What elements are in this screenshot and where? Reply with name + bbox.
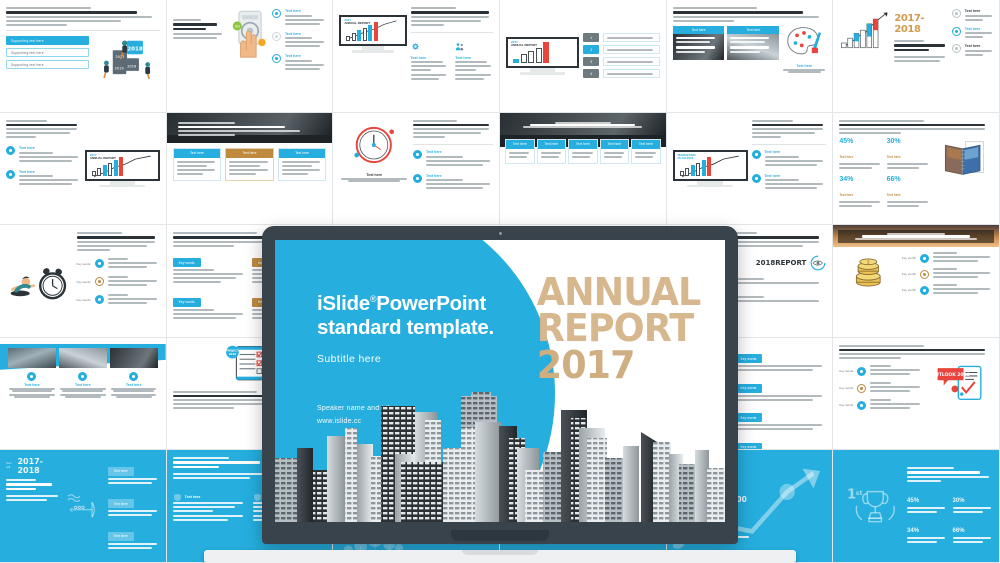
step-label: Key words <box>77 262 91 266</box>
thumbnail-r4c1[interactable]: Text here Text here Text here <box>0 338 167 451</box>
svg-text:2017: 2017 <box>116 55 125 59</box>
card: Text here <box>537 139 567 164</box>
photo <box>59 348 107 368</box>
thumbnail-r4c6[interactable]: Key words Key words Key words OUTLOOK 20… <box>833 338 1000 451</box>
card: Text here <box>505 139 535 164</box>
annual-line-1: ANNUAL <box>537 274 719 310</box>
play-icon <box>857 384 866 393</box>
step-label: Key words <box>839 369 853 373</box>
outlook-illustration: OUTLOOK 2018 <box>927 363 993 411</box>
thumbnail-r2c5[interactable]: MARKETINGPLAN 2018 Text here <box>667 113 834 226</box>
item-title: Text here <box>965 9 993 13</box>
percent-value: 30% <box>953 498 965 504</box>
card: Text here <box>600 139 630 164</box>
play-icon <box>95 277 104 286</box>
gear-icon <box>411 42 420 51</box>
item-title: Text here <box>965 27 993 31</box>
chart-icon <box>6 146 15 155</box>
thumbnail-r1c1[interactable]: Supporting text here Supporting text her… <box>0 0 167 113</box>
shield-icon <box>173 493 182 502</box>
monitor-mock: 2017ANNUAL REPORT <box>85 120 160 218</box>
hand-tap-illustration: ON <box>229 7 269 72</box>
thumbnail-r1c2[interactable]: ON Text here Text here Text here <box>167 0 334 113</box>
gear-icon <box>6 170 15 179</box>
monitor-mock: 2017ANNUAL REPORT <box>339 7 406 82</box>
svg-text:2019: 2019 <box>115 66 124 70</box>
thumbnail-r2c4[interactable]: Text here Text here Text here Text here … <box>500 113 667 226</box>
play-icon <box>857 367 866 376</box>
bar-label: Supporting text here <box>7 61 88 67</box>
chart-icon <box>952 27 961 36</box>
svg-text:2018: 2018 <box>127 46 143 52</box>
gear-icon <box>752 174 761 183</box>
eye-icon <box>810 255 826 271</box>
laptop-lid: iSlide®PowerPoint standard template. Sub… <box>262 226 738 544</box>
step-label: Key words <box>902 256 916 260</box>
webcam-icon <box>499 232 502 235</box>
target-icon <box>413 150 422 159</box>
thumbnail-r5c1[interactable]: Text will 2017-2018 <box>0 450 167 563</box>
percent-value: 66% <box>953 528 965 534</box>
play-icon <box>857 401 866 410</box>
chat-icon <box>272 32 281 41</box>
card: Text here <box>225 148 274 181</box>
step-label: Key words <box>839 386 853 390</box>
step-label: Key words <box>77 280 91 284</box>
col-title: Text here <box>411 56 449 60</box>
thumbnail-r1c6[interactable]: 2017-2018 Text here Text here Text here <box>833 0 1000 113</box>
caption: Text here <box>782 64 826 68</box>
item-title: Text here <box>285 32 326 36</box>
photo <box>8 348 56 368</box>
people-icon <box>455 42 464 51</box>
col-title: Text here <box>185 495 201 499</box>
keyword-chip: Key words <box>173 298 201 307</box>
percent-label: Text here <box>839 193 853 197</box>
year-range: 2017-2018 <box>894 13 947 35</box>
percent-label: Text here <box>887 193 901 197</box>
thumbnail-r3c1[interactable]: Key words Key words Key words <box>0 225 167 338</box>
clock-illustration: Text here <box>339 120 409 218</box>
item-title: Text here <box>765 150 827 154</box>
coins-illustration: $ <box>839 255 898 294</box>
step-label: Key words <box>839 403 853 407</box>
laptop-hinge-notch <box>451 530 549 541</box>
svg-text:OUTLOOK 2018: OUTLOOK 2018 <box>931 372 969 378</box>
screenshot-root: Supporting text here Supporting text her… <box>0 0 1000 563</box>
monitor-mock: MARKETINGPLAN 2018 <box>673 120 748 218</box>
item-chip: Text here <box>108 499 134 508</box>
thumbnail-r1c4[interactable]: 2017ANNUAL REPORT 1 2 3 4 <box>500 0 667 113</box>
bar-label: Supporting text here <box>7 37 88 43</box>
percent-value: 45% <box>839 138 882 145</box>
slide-title-line2: standard template. <box>317 316 494 339</box>
thumbnail-r2c2[interactable]: Text here Text here Text here <box>167 113 334 226</box>
item-title: Text here <box>8 383 56 387</box>
percent-value: 66% <box>887 176 930 183</box>
step-label: Key words <box>902 288 916 292</box>
palette-illustration: Text here <box>782 26 826 74</box>
search-icon <box>272 9 281 18</box>
card: Text here <box>568 139 598 164</box>
leaf-icon <box>27 372 36 381</box>
play-icon <box>920 286 929 295</box>
item-title: Text here <box>59 383 107 387</box>
laptop-screen: iSlide®PowerPoint standard template. Sub… <box>275 240 725 522</box>
photo-card: Text here <box>673 26 725 74</box>
svg-text:$: $ <box>867 259 870 265</box>
item-chip: Text here <box>108 532 134 541</box>
keyword-chip: Key words <box>173 258 201 267</box>
svg-text:2016: 2016 <box>127 64 137 68</box>
annual-line-2: REPORT <box>537 310 719 346</box>
percent-value: 30% <box>887 138 930 145</box>
svg-text:st: st <box>856 490 863 497</box>
annual-report-heading: ANNUAL REPORT 2017 <box>537 274 719 383</box>
percent-value: 34% <box>839 176 882 183</box>
percent-label: Text here <box>839 155 853 159</box>
slide-subtitle: Subtitle here <box>317 353 381 365</box>
year-range: 2017-2018 <box>17 457 60 475</box>
play-icon <box>95 259 104 268</box>
svg-text:1: 1 <box>847 487 856 502</box>
bar-label: Supporting text here <box>7 49 88 55</box>
play-icon <box>95 295 104 304</box>
percent-label: Text here <box>887 155 901 159</box>
laptop-base <box>204 550 796 563</box>
chart-icon <box>752 150 761 159</box>
item-title: Text here <box>19 146 81 150</box>
percent-value: 34% <box>907 528 919 534</box>
annual-line-3: 2017 <box>537 347 719 383</box>
alarm-illustration <box>6 232 73 330</box>
slide-title-brand: iSlide <box>317 292 370 315</box>
play-icon <box>920 254 929 263</box>
card: Text here <box>278 148 327 181</box>
city-skyline-illustration <box>275 392 725 522</box>
gear-icon <box>413 174 422 183</box>
people-icon <box>952 9 961 18</box>
item-title: Text here <box>19 170 81 174</box>
trophy-illustration: 1 st <box>839 479 903 534</box>
title-slide: iSlide®PowerPoint standard template. Sub… <box>275 240 725 522</box>
thumbnail-r5c6[interactable]: 1 st 45% 30% <box>833 450 1000 563</box>
item-title: Text here <box>765 174 827 178</box>
item-title: Text here <box>426 150 493 154</box>
gear-icon <box>78 372 87 381</box>
photo <box>110 348 158 368</box>
thumbnail-r1c3[interactable]: 2017ANNUAL REPORT <box>333 0 500 113</box>
percent-value: 45% <box>907 498 919 504</box>
pen-icon <box>129 372 138 381</box>
thumbnail-r2c3[interactable]: Text here Text here Text here <box>333 113 500 226</box>
item-title: Text here <box>285 54 326 58</box>
monitor-mock: 2017ANNUAL REPORT <box>506 37 579 75</box>
step-label: Key words <box>77 298 91 302</box>
item-title: Text here <box>285 9 326 13</box>
thumbnail-r1c5[interactable]: Text here Text here <box>667 0 834 113</box>
slide-title-product: PowerPoint <box>376 292 486 315</box>
item-title: Text here <box>965 44 993 48</box>
open-book-illustration <box>934 138 993 209</box>
search-icon <box>272 54 281 63</box>
play-icon <box>920 270 929 279</box>
item-title: Text here <box>110 383 158 387</box>
card: Text here <box>631 139 661 164</box>
step-label: Key words <box>902 272 916 276</box>
thumbnail-r2c1[interactable]: Text here Text here 2017ANNUAL REPORT <box>0 113 167 226</box>
item-chip: Text here <box>108 467 134 476</box>
col-title: Text here <box>455 56 493 60</box>
trumpet-illustration <box>65 457 104 555</box>
thumbnail-r3c6[interactable]: $ Key words Key words Key words <box>833 225 1000 338</box>
laptop-mockup: iSlide®PowerPoint standard template. Sub… <box>204 226 796 563</box>
thumbnail-r2c6[interactable]: 45%Text here 30%Text here 34%Text here 6… <box>833 113 1000 226</box>
puzzle-illustration: 2018 2017 2019 2016 <box>93 36 160 87</box>
slide-title: iSlide®PowerPoint standard template. <box>317 292 494 340</box>
svg-text:ON: ON <box>234 25 240 29</box>
caption: Text here <box>339 173 409 177</box>
photo-card: Text here <box>727 26 779 74</box>
growth-chart <box>839 7 890 105</box>
card: Text here <box>173 148 222 181</box>
clock-icon <box>952 44 961 53</box>
item-title: Text here <box>426 174 493 178</box>
